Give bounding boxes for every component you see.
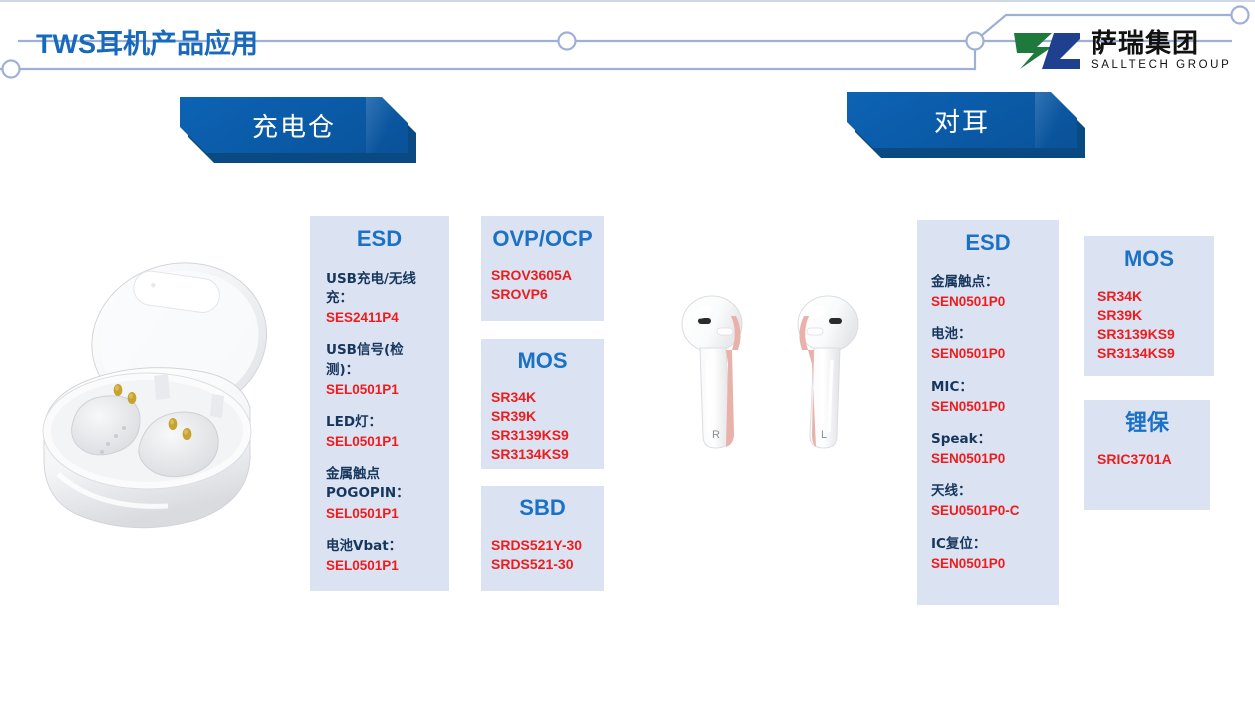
company-logo: 萨瑞集团 SALLTECH GROUP bbox=[1012, 26, 1244, 76]
card-body: SRDS521Y-30 SRDS521-30 bbox=[481, 519, 604, 574]
spec-value: SEL0501P1 bbox=[326, 504, 435, 523]
card-title: SBD bbox=[481, 486, 604, 519]
spec-item: Speak： SEN0501P0 bbox=[931, 430, 1045, 468]
spec-key: 金属触点： bbox=[931, 273, 1045, 292]
part-number: SRDS521-30 bbox=[491, 555, 590, 574]
logo-name-en: SALLTECH GROUP bbox=[1091, 60, 1231, 72]
spec-item: MIC： SEN0501P0 bbox=[931, 378, 1045, 416]
card-body: USB充电/无线充： SES2411P4 USB信号(检测)： SEL0501P… bbox=[310, 250, 449, 575]
spec-item: 电池： SEN0501P0 bbox=[931, 325, 1045, 363]
spec-key-line2: POGOPIN： bbox=[326, 484, 435, 503]
part-number: SRIC3701A bbox=[1097, 450, 1196, 469]
spec-item: 金属触点： SEN0501P0 bbox=[931, 273, 1045, 311]
spec-key: Speak： bbox=[931, 430, 1045, 449]
card-esd-charging-case: ESD USB充电/无线充： SES2411P4 USB信号(检测)： SEL0… bbox=[310, 216, 449, 591]
earbud-left-label: L bbox=[821, 429, 827, 441]
earbud-left: L bbox=[798, 296, 858, 448]
spec-key: USB信号(检测)： bbox=[326, 341, 435, 379]
spec-value: SEN0501P0 bbox=[931, 292, 1045, 311]
section-banner-earbuds: 对耳 bbox=[847, 92, 1077, 148]
spec-key: 金属触点 bbox=[326, 465, 435, 484]
page-title: TWS耳机产品应用 bbox=[36, 22, 258, 61]
spec-value: SES2411P4 bbox=[326, 308, 435, 327]
card-body: SR34K SR39K SR3139KS9 SR3134KS9 bbox=[481, 372, 604, 464]
spec-key: 天线： bbox=[931, 482, 1045, 501]
part-number: SROV3605A bbox=[491, 266, 590, 285]
spec-item: 金属触点 POGOPIN： SEL0501P1 bbox=[326, 465, 435, 522]
card-esd-earbuds: ESD 金属触点： SEN0501P0 电池： SEN0501P0 MIC： S… bbox=[917, 220, 1059, 605]
part-number: SR39K bbox=[1097, 306, 1200, 325]
card-title: OVP/OCP bbox=[481, 216, 604, 250]
card-title: ESD bbox=[917, 220, 1059, 254]
card-body: SRIC3701A bbox=[1084, 434, 1210, 469]
banner-face: 对耳 bbox=[847, 92, 1077, 148]
spec-value: SEN0501P0 bbox=[931, 449, 1045, 468]
card-body: SR34K SR39K SR3139KS9 SR3134KS9 bbox=[1084, 270, 1214, 363]
part-number: SR3139KS9 bbox=[1097, 325, 1200, 344]
part-number: SR3139KS9 bbox=[491, 426, 590, 445]
card-title: 锂保 bbox=[1084, 400, 1210, 434]
logo-name-cn: 萨瑞集团 bbox=[1091, 31, 1231, 57]
spec-key: LED灯： bbox=[326, 413, 435, 432]
logo-text: 萨瑞集团 SALLTECH GROUP bbox=[1091, 31, 1231, 72]
spec-item: 电池Vbat： SEL0501P1 bbox=[326, 537, 435, 575]
spec-value: SEN0501P0 bbox=[931, 554, 1045, 573]
card-body: SROV3605A SROVP6 bbox=[481, 250, 604, 304]
spec-item: IC复位： SEN0501P0 bbox=[931, 535, 1045, 573]
spec-value: SEU0501P0-C bbox=[931, 501, 1045, 520]
spec-item: 天线： SEU0501P0-C bbox=[931, 482, 1045, 520]
banner-label: 充电仓 bbox=[252, 107, 336, 144]
card-title: MOS bbox=[481, 339, 604, 372]
card-mos-charging-case: MOS SR34K SR39K SR3139KS9 SR3134KS9 bbox=[481, 339, 604, 469]
section-banner-charging-case: 充电仓 bbox=[180, 97, 408, 153]
spec-value: SEL0501P1 bbox=[326, 556, 435, 575]
card-title: ESD bbox=[310, 216, 449, 250]
spec-key: 电池Vbat： bbox=[326, 537, 435, 556]
card-body: 金属触点： SEN0501P0 电池： SEN0501P0 MIC： SEN05… bbox=[917, 254, 1059, 573]
part-number: SR34K bbox=[491, 388, 590, 407]
banner-label: 对耳 bbox=[934, 102, 990, 139]
part-number: SR3134KS9 bbox=[1097, 344, 1200, 363]
part-number: SRDS521Y-30 bbox=[491, 536, 590, 555]
spec-key: USB充电/无线充： bbox=[326, 270, 435, 308]
earbud-right-label: R bbox=[712, 429, 720, 441]
earbud-right: R bbox=[682, 296, 742, 448]
charging-case-image bbox=[28, 248, 296, 552]
card-sbd: SBD SRDS521Y-30 SRDS521-30 bbox=[481, 486, 604, 591]
part-number: SROVP6 bbox=[491, 285, 590, 304]
slide-root: TWS耳机产品应用 萨瑞集团 SALLTECH GROUP 充电仓 对耳 bbox=[0, 0, 1255, 706]
spec-key: 电池： bbox=[931, 325, 1045, 344]
spec-item: USB信号(检测)： SEL0501P1 bbox=[326, 341, 435, 398]
spec-key: IC复位： bbox=[931, 535, 1045, 554]
earbuds-image: R L bbox=[676, 272, 868, 468]
spec-value: SEN0501P0 bbox=[931, 397, 1045, 416]
card-battery-protection: 锂保 SRIC3701A bbox=[1084, 400, 1210, 510]
card-mos-earbuds: MOS SR34K SR39K SR3139KS9 SR3134KS9 bbox=[1084, 236, 1214, 376]
spec-key: MIC： bbox=[931, 378, 1045, 397]
part-number: SR39K bbox=[491, 407, 590, 426]
part-number: SR3134KS9 bbox=[491, 445, 590, 464]
card-ovp-ocp: OVP/OCP SROV3605A SROVP6 bbox=[481, 216, 604, 321]
spec-item: LED灯： SEL0501P1 bbox=[326, 413, 435, 451]
part-number: SR34K bbox=[1097, 287, 1200, 306]
salltech-logo-icon bbox=[1012, 29, 1082, 73]
spec-value: SEL0501P1 bbox=[326, 432, 435, 451]
spec-value: SEN0501P0 bbox=[931, 344, 1045, 363]
banner-face: 充电仓 bbox=[180, 97, 408, 153]
spec-value: SEL0501P1 bbox=[326, 380, 435, 399]
spec-item: USB充电/无线充： SES2411P4 bbox=[326, 270, 435, 327]
card-title: MOS bbox=[1084, 236, 1214, 270]
